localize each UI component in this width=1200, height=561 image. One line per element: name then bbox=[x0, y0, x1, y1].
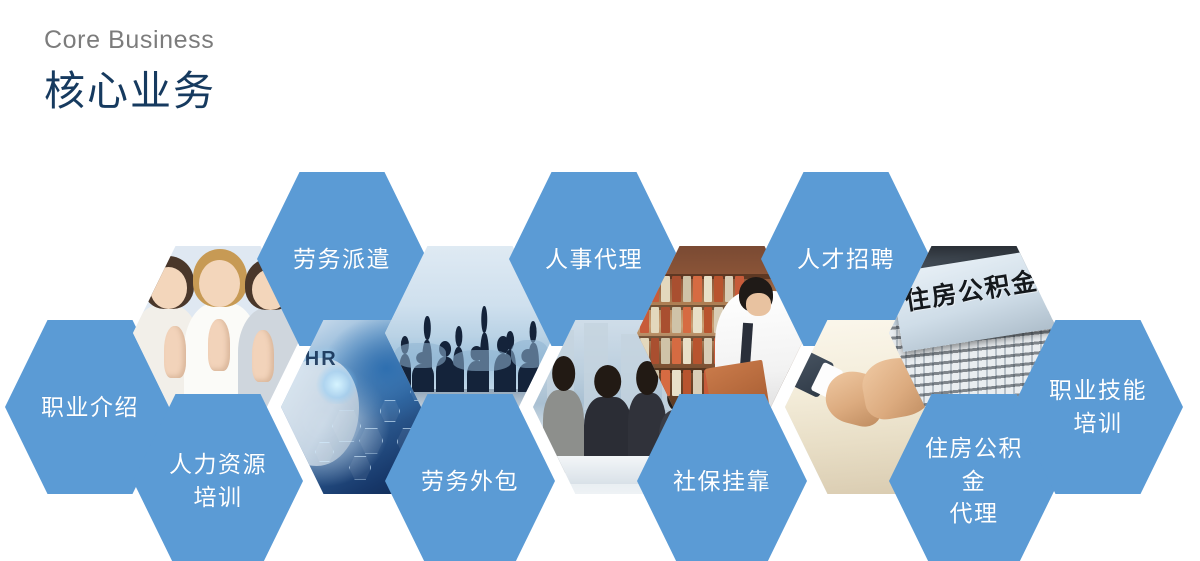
hex-label-text: 住房公积金 代理 bbox=[915, 432, 1033, 530]
honeycomb-grid: 职业介绍人力资源 培训劳务派遣HR劳务外包人事代理社保挂靠人才招聘住房公积金住房… bbox=[0, 0, 1200, 561]
hex-label-text: 职业技能 培训 bbox=[1039, 374, 1157, 439]
page-root: Core Business 核心业务 职业介绍人力资源 培训劳务派遣HR劳务外包… bbox=[0, 0, 1200, 561]
hex-label-text: 人事代理 bbox=[535, 243, 653, 276]
hex-label-text: 劳务派遣 bbox=[283, 243, 401, 276]
hr-badge-text: HR bbox=[305, 348, 338, 371]
hex-label-text: 社保挂靠 bbox=[663, 465, 781, 498]
hex-label-text: 职业介绍 bbox=[31, 391, 149, 424]
hex-label-text: 劳务外包 bbox=[411, 465, 529, 498]
house-sign-text: 住房公积金 bbox=[902, 261, 1041, 318]
hex-label-text: 人力资源 培训 bbox=[159, 448, 277, 513]
hex-label-text: 人才招聘 bbox=[787, 243, 905, 276]
